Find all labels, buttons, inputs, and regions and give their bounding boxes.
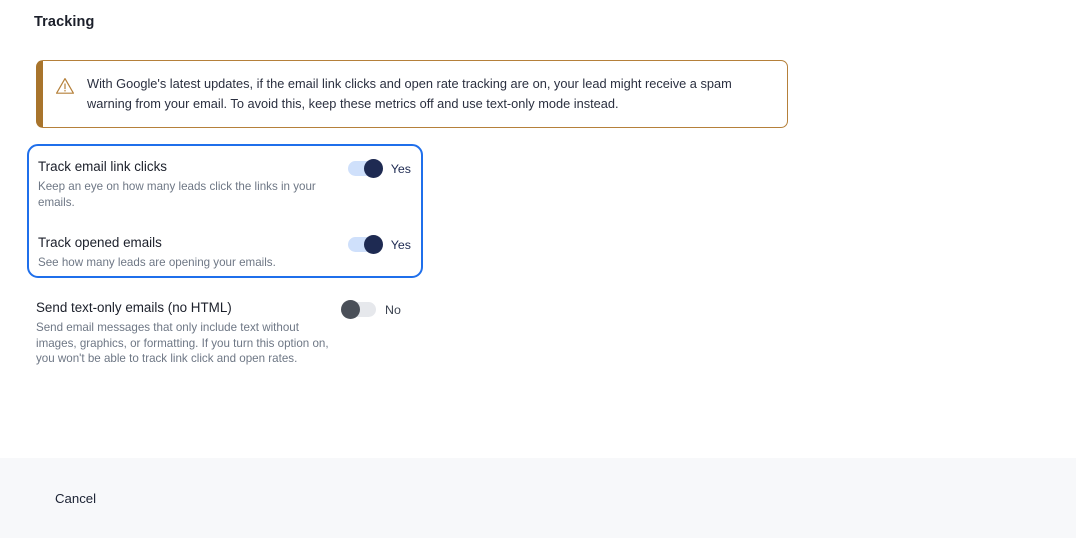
page-title: Tracking bbox=[34, 14, 94, 30]
setting-title: Track email link clicks bbox=[38, 158, 348, 176]
setting-row-track-opened-emails: Track opened emails See how many leads a… bbox=[38, 234, 411, 271]
setting-row-send-text-only-emails: Send text-only emails (no HTML) Send ema… bbox=[36, 299, 426, 367]
row-spacer bbox=[38, 210, 411, 234]
toggle-control-track-email-link-clicks[interactable]: Yes bbox=[348, 161, 411, 176]
setting-row-inner: Send text-only emails (no HTML) Send ema… bbox=[36, 299, 426, 367]
tracking-settings-page: Tracking With Google's latest updates, i… bbox=[0, 0, 1076, 538]
toggle-knob bbox=[341, 300, 360, 319]
setting-title: Track opened emails bbox=[38, 234, 348, 252]
toggle-control-track-opened-emails[interactable]: Yes bbox=[348, 237, 411, 252]
setting-description: Keep an eye on how many leads click the … bbox=[38, 179, 348, 210]
setting-description: Send email messages that only include te… bbox=[36, 320, 342, 367]
toggle-state-label: No bbox=[385, 303, 401, 317]
cancel-button[interactable]: Cancel bbox=[51, 485, 100, 512]
toggle-knob bbox=[364, 235, 383, 254]
toggle-control-send-text-only-emails[interactable]: No bbox=[342, 302, 401, 317]
setting-text-block: Send text-only emails (no HTML) Send ema… bbox=[36, 299, 342, 367]
toggle-switch[interactable] bbox=[348, 237, 382, 252]
toggle-state-label: Yes bbox=[391, 162, 411, 176]
setting-row-track-email-link-clicks: Track email link clicks Keep an eye on h… bbox=[38, 158, 411, 210]
footer-bar: Cancel bbox=[0, 458, 1076, 538]
warning-banner-text: With Google's latest updates, if the ema… bbox=[87, 74, 757, 113]
toggle-knob bbox=[364, 159, 383, 178]
toggle-switch[interactable] bbox=[348, 161, 382, 176]
setting-text-block: Track email link clicks Keep an eye on h… bbox=[38, 158, 348, 210]
warning-triangle-icon bbox=[55, 76, 75, 96]
setting-text-block: Track opened emails See how many leads a… bbox=[38, 234, 348, 271]
setting-title: Send text-only emails (no HTML) bbox=[36, 299, 342, 317]
setting-description: See how many leads are opening your emai… bbox=[38, 255, 348, 271]
warning-banner: With Google's latest updates, if the ema… bbox=[36, 60, 788, 128]
tracking-toggle-group: Track email link clicks Keep an eye on h… bbox=[27, 144, 423, 278]
toggle-state-label: Yes bbox=[391, 238, 411, 252]
toggle-switch[interactable] bbox=[342, 302, 376, 317]
